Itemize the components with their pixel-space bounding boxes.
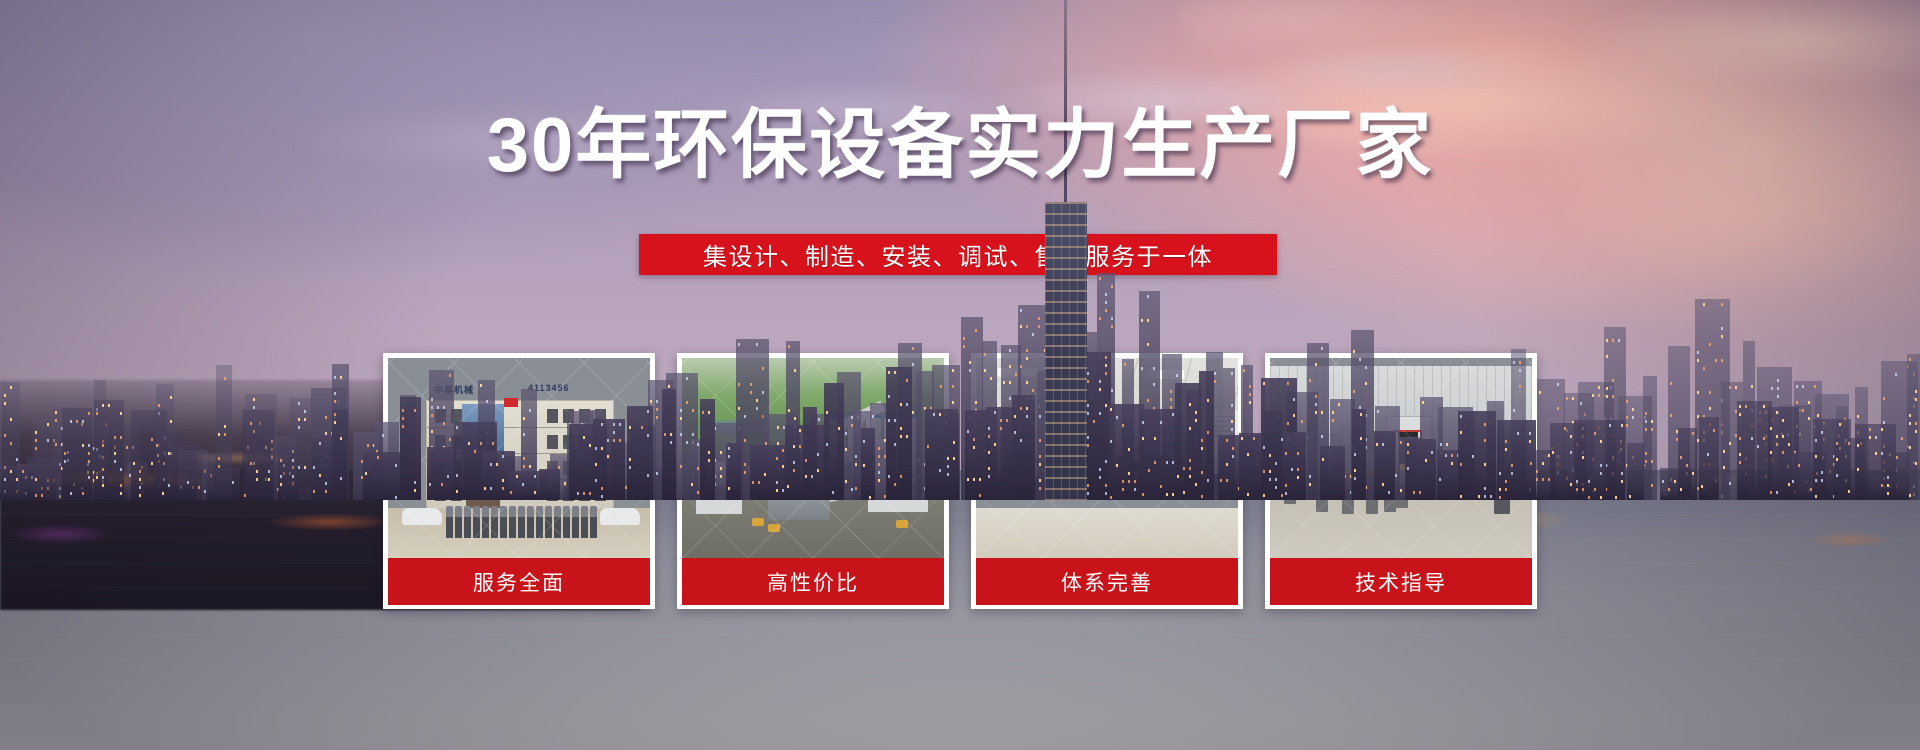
building-windows	[1699, 417, 1701, 420]
building-windows	[1790, 452, 1792, 455]
building-windows	[1743, 341, 1745, 344]
building-windows	[1564, 393, 1566, 396]
yellow-loader	[752, 518, 764, 526]
card-caption: 服务全面	[388, 558, 650, 605]
building-windows	[837, 372, 839, 375]
building-windows	[932, 365, 934, 368]
water-band	[0, 610, 1920, 612]
skyline-building	[1012, 395, 1035, 500]
building-windows	[1162, 354, 1164, 357]
skyline-building	[1699, 417, 1719, 500]
building-windows	[586, 410, 588, 413]
building-windows	[1660, 468, 1662, 471]
building-windows	[1223, 368, 1225, 371]
staff-member	[518, 506, 525, 538]
building-windows	[736, 339, 738, 342]
skyline-building	[700, 399, 715, 500]
skyline-building	[1894, 452, 1909, 500]
staff-member	[545, 506, 552, 538]
staff-member	[500, 506, 507, 538]
card-caption: 高性价比	[682, 558, 944, 605]
skyline-building	[965, 410, 988, 500]
skyline-building	[363, 452, 400, 500]
building-windows	[1405, 439, 1407, 442]
skyline-building	[1627, 443, 1644, 500]
building-windows	[853, 411, 855, 414]
building-windows	[1122, 359, 1124, 362]
building-windows	[1351, 330, 1353, 333]
building-windows	[482, 451, 484, 454]
building-windows	[1352, 409, 1354, 412]
building-windows	[478, 380, 480, 383]
building-windows	[1550, 423, 1552, 426]
skyline-building	[593, 419, 625, 500]
building-windows	[311, 388, 313, 391]
building-windows	[1097, 273, 1099, 276]
building-windows	[1604, 327, 1606, 330]
building-windows	[206, 469, 208, 472]
skyline-building	[1405, 439, 1436, 500]
skyline-building	[886, 367, 912, 500]
skyline-building	[1140, 409, 1178, 500]
building-windows	[332, 364, 334, 367]
building-windows	[861, 428, 863, 431]
building-windows	[593, 419, 595, 422]
subtitle-text: 集设计、制造、安装、调试、售后服务于一体	[703, 237, 1213, 272]
building-windows	[1537, 379, 1539, 382]
card-caption: 体系完善	[976, 558, 1238, 605]
skyline-building	[173, 445, 197, 500]
building-windows	[508, 471, 510, 474]
building-windows	[1320, 446, 1322, 449]
building-windows	[1528, 450, 1530, 453]
skyline-building	[945, 413, 959, 500]
staff-member	[554, 506, 561, 538]
building-windows	[216, 365, 218, 368]
skyline-building	[662, 389, 676, 500]
building-windows	[1458, 411, 1460, 414]
building-windows	[898, 343, 900, 346]
skyline-building	[400, 397, 421, 500]
building-windows	[763, 414, 765, 417]
water-band	[0, 706, 1920, 708]
building-window	[547, 435, 558, 449]
building-windows	[1907, 354, 1909, 357]
staff-member	[491, 506, 498, 538]
building-windows	[1836, 406, 1838, 409]
building-windows	[62, 408, 64, 411]
building-windows	[627, 406, 629, 409]
staff-member	[464, 506, 471, 538]
skyline-building	[1737, 401, 1772, 500]
building-windows	[965, 410, 967, 413]
building-windows	[33, 419, 35, 422]
building-windows	[1881, 361, 1883, 364]
building-windows	[1001, 345, 1003, 348]
building-windows	[1668, 346, 1670, 349]
national-flag	[504, 398, 518, 407]
building-windows	[689, 439, 691, 442]
building-windows	[1140, 409, 1142, 412]
building-windows	[550, 454, 552, 457]
building-windows	[1261, 378, 1263, 381]
subtitle-bar: 集设计、制造、安装、调试、售后服务于一体	[639, 234, 1277, 275]
building-windows	[156, 384, 158, 387]
skyline-building	[539, 469, 560, 500]
building-windows	[1678, 428, 1680, 431]
parked-car-left	[402, 508, 442, 525]
skyline-building	[1175, 383, 1201, 500]
building-windows	[1815, 394, 1817, 397]
skyline-building	[332, 409, 348, 500]
building-windows	[454, 422, 456, 425]
hero-banner: 30年环保设备实力生产厂家 集设计、制造、安装、调试、售后服务于一体 中基机械 …	[0, 0, 1920, 750]
building-windows	[1438, 407, 1440, 410]
zifeng-tower	[1045, 202, 1087, 500]
staff-member	[536, 506, 543, 538]
water-band	[0, 634, 1920, 636]
building-windows	[173, 445, 175, 448]
skyline-building	[94, 400, 124, 500]
building-windows	[1627, 443, 1629, 446]
building-windows	[1768, 407, 1770, 410]
staff-member	[581, 506, 588, 538]
building-windows	[290, 398, 292, 401]
building-windows	[521, 389, 523, 392]
staff-member	[563, 506, 570, 538]
building-windows	[1206, 352, 1208, 355]
skyline-building	[726, 443, 741, 500]
water-band	[0, 562, 1920, 564]
building-windows	[726, 443, 728, 446]
skyline-building	[803, 407, 817, 500]
building-windows	[945, 413, 947, 416]
staff-member	[527, 506, 534, 538]
building-windows	[750, 445, 752, 448]
water-band	[0, 682, 1920, 684]
building-windows	[94, 400, 96, 403]
building-windows	[870, 403, 872, 406]
skyline-building	[27, 458, 56, 500]
building-windows	[1398, 437, 1400, 440]
building-windows	[1330, 399, 1332, 402]
building-windows	[154, 432, 156, 435]
water-band	[0, 514, 1920, 516]
building-windows	[245, 394, 247, 397]
building-windows	[961, 317, 963, 320]
building-windows	[1012, 395, 1014, 398]
building-windows	[311, 438, 313, 441]
building-windows	[1894, 452, 1896, 455]
staff-member	[572, 506, 579, 538]
skyline-building	[427, 447, 456, 500]
building-windows	[1511, 349, 1513, 352]
building-window	[547, 409, 558, 423]
water-band	[0, 586, 1920, 588]
building-windows	[1199, 371, 1201, 374]
skyline-building	[62, 408, 92, 500]
skyline-building	[1199, 371, 1214, 500]
skyline-building	[861, 428, 875, 500]
building-windows	[1643, 376, 1645, 379]
building-windows	[1813, 419, 1815, 422]
building-windows	[1574, 420, 1576, 423]
building-windows	[666, 373, 668, 376]
building-windows	[1737, 401, 1739, 404]
building-windows	[1757, 367, 1759, 370]
zifeng-tower-windows	[1045, 202, 1087, 500]
skyline-building	[1855, 424, 1896, 500]
building-windows	[1794, 381, 1796, 384]
building-windows	[131, 410, 133, 413]
building-windows	[824, 383, 826, 386]
building-windows	[1218, 435, 1220, 438]
building-windows	[127, 462, 129, 465]
skyline-building	[278, 447, 298, 500]
skyline-building	[1458, 411, 1496, 500]
building-windows	[925, 409, 927, 412]
building-windows	[786, 341, 788, 344]
building-windows	[648, 380, 650, 383]
staff-member	[446, 506, 453, 538]
building-windows	[982, 341, 984, 344]
building-windows	[1437, 450, 1439, 453]
staff-member	[509, 506, 516, 538]
skyline-building	[1374, 431, 1395, 500]
building-windows	[1018, 305, 1020, 308]
building-windows	[1487, 401, 1489, 404]
building-windows	[400, 397, 402, 400]
skyline-building	[1643, 376, 1657, 500]
building-windows	[886, 367, 888, 370]
yellow-loader	[896, 520, 908, 528]
skyline-building	[1607, 420, 1625, 500]
building-windows	[202, 454, 204, 457]
building-windows	[1497, 420, 1499, 423]
building-windows	[94, 380, 96, 383]
building-windows	[803, 407, 805, 410]
building-windows	[1834, 438, 1836, 441]
skyline-building	[1352, 409, 1366, 500]
building-windows	[916, 371, 918, 374]
building-windows	[1420, 397, 1422, 400]
skyline-building	[206, 469, 240, 500]
staff-member	[590, 506, 597, 538]
skyline-building	[1239, 433, 1262, 500]
building-windows	[1175, 383, 1177, 386]
skyline-building	[0, 466, 30, 500]
parked-car-right	[600, 508, 640, 525]
staff-member	[455, 506, 462, 538]
building-windows	[1578, 382, 1580, 385]
building-windows	[1375, 406, 1377, 409]
building-windows	[363, 452, 365, 455]
building-windows	[332, 409, 334, 412]
building-windows	[1283, 432, 1285, 435]
building-windows	[1108, 404, 1110, 407]
building-windows	[986, 407, 988, 410]
building-windows	[53, 407, 55, 410]
building-windows	[374, 422, 376, 425]
skyline-building	[1283, 432, 1306, 500]
building-windows	[1695, 299, 1697, 302]
building-windows	[1374, 431, 1376, 434]
building-windows	[1139, 291, 1141, 294]
building-windows	[1855, 387, 1857, 390]
building-windows	[242, 410, 244, 413]
building-windows	[1721, 382, 1723, 385]
skyline-building	[824, 383, 844, 500]
skyline-building	[1320, 446, 1345, 500]
water-band	[0, 658, 1920, 660]
building-windows	[427, 447, 429, 450]
building-windows	[1239, 433, 1241, 436]
skyline-building	[242, 410, 274, 500]
staff-member	[473, 506, 480, 538]
building-windows	[700, 399, 702, 402]
building-windows	[1855, 424, 1857, 427]
building-windows	[278, 447, 280, 450]
water-band	[0, 538, 1920, 540]
staff-member	[482, 506, 489, 538]
skyline-building	[1678, 428, 1697, 500]
building-windows	[1307, 343, 1309, 346]
building-windows	[1241, 365, 1243, 368]
building-windows	[27, 458, 29, 461]
building-windows	[569, 424, 571, 427]
yellow-loader	[768, 524, 780, 532]
card-caption: 技术指导	[1270, 558, 1532, 605]
building-windows	[429, 370, 431, 373]
building-windows	[1618, 396, 1620, 399]
building-windows	[785, 425, 787, 428]
skyline-building	[1108, 404, 1144, 500]
building-windows	[1037, 371, 1039, 374]
building-windows	[353, 432, 355, 435]
building-windows	[567, 411, 569, 414]
building-windows	[1607, 420, 1609, 423]
skyline-building	[627, 406, 653, 500]
building-windows	[662, 389, 664, 392]
banner-headline: 30年环保设备实力生产厂家	[0, 108, 1920, 184]
